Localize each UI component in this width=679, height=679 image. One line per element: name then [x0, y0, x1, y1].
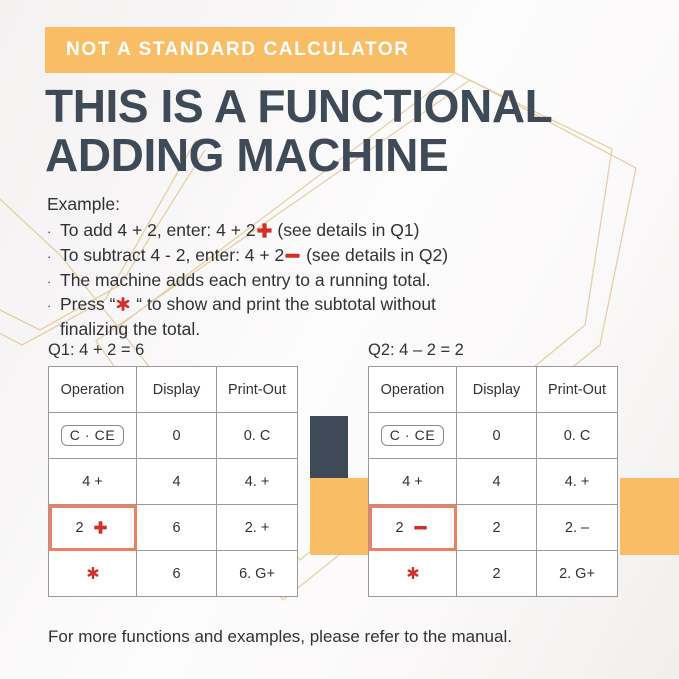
- q1-header-operation: Operation: [49, 367, 137, 413]
- table-header-row: OperationDisplayPrint-Out: [49, 367, 298, 413]
- bullet-text-pre: Press “: [60, 294, 115, 314]
- q2-row1-printout-cell: 0. C: [537, 413, 618, 459]
- asterisk-icon: [115, 296, 131, 312]
- q1-row4-display-cell: 6: [137, 551, 217, 597]
- minus-icon: [413, 520, 428, 535]
- q1-row2-operation-cell: 4 +: [49, 459, 137, 505]
- asterisk-icon: [86, 566, 100, 580]
- q2-header-print-out: Print-Out: [537, 367, 618, 413]
- bullet-dot-icon: ·: [47, 223, 60, 241]
- q2-row3-operation-cell: 2: [369, 505, 457, 551]
- bullet-dot-icon: ·: [47, 297, 60, 315]
- banner: NOT A STANDARD CALCULATOR: [45, 27, 455, 73]
- q1-label: Q1: 4 + 2 = 6: [48, 341, 144, 360]
- table-row: 222. –: [369, 505, 618, 551]
- q1-header-print-out: Print-Out: [217, 367, 298, 413]
- table-row: 262. +: [49, 505, 298, 551]
- example-bullet-item: ·To add 4 + 2, enter: 4 + 2 (see details…: [47, 218, 448, 243]
- table-row: 4 +44. +: [369, 459, 618, 505]
- bullet-text-pre: To subtract 4 - 2, enter: 4 + 2: [60, 245, 284, 265]
- minus-icon: [284, 247, 301, 264]
- example-bullet-item: ·To subtract 4 - 2, enter: 4 + 2 (see de…: [47, 243, 448, 268]
- table-header-row: OperationDisplayPrint-Out: [369, 367, 618, 413]
- example-bullet-text: To add 4 + 2, enter: 4 + 2 (see details …: [60, 218, 448, 243]
- bullet-text-pre: The machine adds each entry to a running…: [60, 270, 431, 290]
- bullet-text-post: “ to show and print the subtotal without: [131, 294, 435, 314]
- plus-icon: [256, 222, 273, 239]
- q2-row2-display-cell: 4: [457, 459, 537, 505]
- example-bullet-text: finalizing the total.: [60, 317, 448, 342]
- table-row: 22. G+: [369, 551, 618, 597]
- table-row: C · CE00. C: [369, 413, 618, 459]
- q2-header-operation: Operation: [369, 367, 457, 413]
- clear-entry-button[interactable]: C · CE: [381, 425, 445, 446]
- q2-row3-printout-cell: 2. –: [537, 505, 618, 551]
- page-title-line-1: THIS IS A FUNCTIONAL: [45, 82, 552, 131]
- plus-icon: [93, 520, 108, 535]
- example-bullet-item: ·The machine adds each entry to a runnin…: [47, 268, 448, 293]
- q2-row1-display-cell: 0: [457, 413, 537, 459]
- example-bullet-item-continuation: ·finalizing the total.: [47, 317, 448, 342]
- table-row: 4 +44. +: [49, 459, 298, 505]
- example-title: Example:: [47, 192, 448, 217]
- q1-header-display: Display: [137, 367, 217, 413]
- q1-row4-operation-cell: [49, 551, 137, 597]
- banner-text: NOT A STANDARD CALCULATOR: [45, 39, 410, 61]
- q1-row3-operation-cell: 2: [49, 505, 137, 551]
- q1-row3-printout-cell: 2. +: [217, 505, 298, 551]
- operation-number: 2: [395, 520, 403, 536]
- example-bullet-list: ·To add 4 + 2, enter: 4 + 2 (see details…: [47, 218, 448, 342]
- q2-label: Q2: 4 – 2 = 2: [368, 341, 464, 360]
- q1-row2-printout-cell: 4. +: [217, 459, 298, 505]
- q1-row2-display-cell: 4: [137, 459, 217, 505]
- example-bullet-text: Press “ “ to show and print the subtotal…: [60, 292, 448, 317]
- q1-row1-display-cell: 0: [137, 413, 217, 459]
- page-title: THIS IS A FUNCTIONAL ADDING MACHINE: [45, 82, 552, 180]
- asterisk-icon: [406, 566, 420, 580]
- q1-row3-display-cell: 6: [137, 505, 217, 551]
- bullet-dot-icon: ·: [47, 248, 60, 266]
- q1-table: OperationDisplayPrint-OutC · CE00. C4 +4…: [48, 366, 298, 597]
- q2-row3-display-cell: 2: [457, 505, 537, 551]
- decoration-orange-block-right: [620, 478, 679, 555]
- q2-row4-printout-cell: 2. G+: [537, 551, 618, 597]
- q2-header-display: Display: [457, 367, 537, 413]
- operation-entry: 2: [75, 520, 109, 536]
- q2-row2-printout-cell: 4. +: [537, 459, 618, 505]
- decoration-dark-block: [310, 416, 348, 484]
- table-row: 66. G+: [49, 551, 298, 597]
- q1-row4-printout-cell: 6. G+: [217, 551, 298, 597]
- example-bullet-item: ·Press “ “ to show and print the subtota…: [47, 292, 448, 317]
- q1-row1-printout-cell: 0. C: [217, 413, 298, 459]
- page-title-line-2: ADDING MACHINE: [45, 131, 552, 180]
- q1-row1-operation-cell: C · CE: [49, 413, 137, 459]
- decoration-orange-block-middle: [310, 478, 375, 555]
- table-row: C · CE00. C: [49, 413, 298, 459]
- q2-row2-operation-cell: 4 +: [369, 459, 457, 505]
- bullet-text-post: (see details in Q2): [301, 245, 448, 265]
- q2-row1-operation-cell: C · CE: [369, 413, 457, 459]
- example-bullet-text: To subtract 4 - 2, enter: 4 + 2 (see det…: [60, 243, 448, 268]
- bullet-text-post: (see details in Q1): [273, 220, 420, 240]
- q2-table: OperationDisplayPrint-OutC · CE00. C4 +4…: [368, 366, 618, 597]
- bullet-dot-icon: ·: [47, 273, 60, 291]
- example-bullet-text: The machine adds each entry to a running…: [60, 268, 448, 293]
- clear-entry-button[interactable]: C · CE: [61, 425, 125, 446]
- example-block: Example: ·To add 4 + 2, enter: 4 + 2 (se…: [47, 192, 448, 342]
- bullet-text-pre: To add 4 + 2, enter: 4 + 2: [60, 220, 256, 240]
- operation-entry: 2: [395, 520, 429, 536]
- operation-number: 2: [75, 520, 83, 536]
- q2-row4-operation-cell: [369, 551, 457, 597]
- footer-note: For more functions and examples, please …: [48, 627, 512, 647]
- q2-row4-display-cell: 2: [457, 551, 537, 597]
